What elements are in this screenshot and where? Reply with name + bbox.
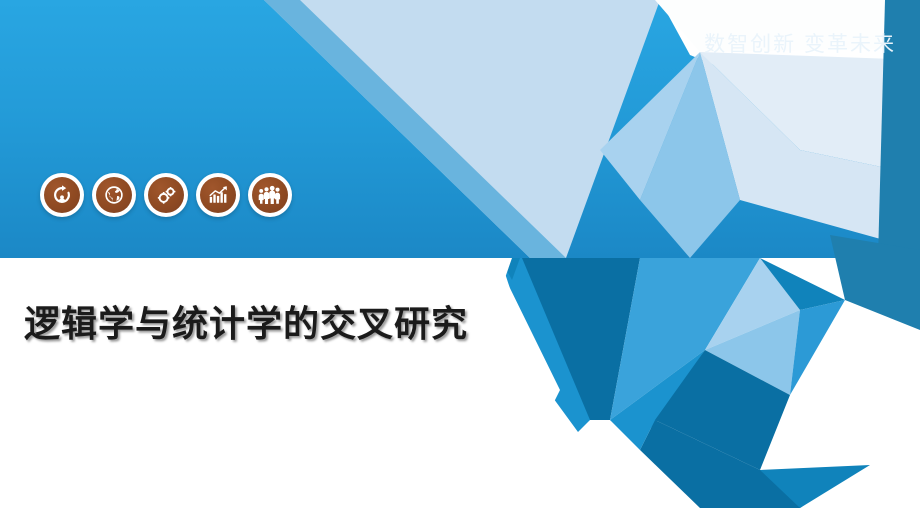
low-poly-artwork bbox=[0, 0, 920, 518]
bar-chart-icon[interactable] bbox=[196, 173, 240, 217]
refresh-cycle-glyph bbox=[51, 184, 73, 206]
bar-chart-icon-disc bbox=[200, 177, 236, 213]
header-tagline: 数智创新 变革未来 bbox=[704, 28, 896, 58]
gears-glyph bbox=[155, 184, 178, 207]
poly-steel-right-lower bbox=[830, 235, 920, 330]
presentation-title-slide: 数智创新 变革未来 bbox=[0, 0, 920, 518]
bar-chart-glyph bbox=[207, 184, 229, 206]
people-group-icon[interactable] bbox=[248, 173, 292, 217]
page-title: 逻辑学与统计学的交叉研究 bbox=[24, 295, 468, 347]
people-group-icon-disc bbox=[252, 177, 288, 213]
gears-icon[interactable] bbox=[144, 173, 188, 217]
people-group-glyph bbox=[258, 184, 282, 206]
refresh-cycle-icon-disc bbox=[44, 177, 80, 213]
refresh-cycle-icon[interactable] bbox=[40, 173, 84, 217]
globe-icon[interactable] bbox=[92, 173, 136, 217]
globe-icon-disc bbox=[96, 177, 132, 213]
gears-icon-disc bbox=[148, 177, 184, 213]
icon-row bbox=[40, 173, 292, 217]
globe-glyph bbox=[103, 184, 125, 206]
